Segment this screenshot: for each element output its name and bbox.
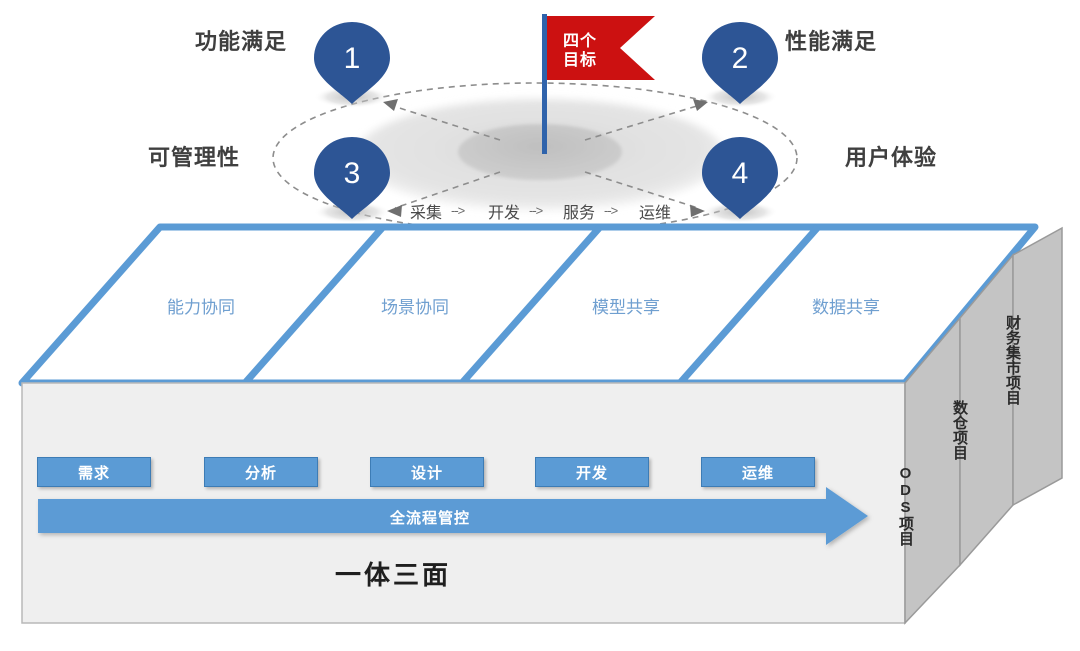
lifecycle-arrow-3: -->: [604, 203, 617, 218]
svg-text:4: 4: [732, 157, 749, 190]
diagram-canvas: 1 2 3 4: [0, 0, 1080, 651]
lifecycle-step-1: 采集: [410, 199, 442, 223]
side-panel-label-finance: 财务集市项目: [1002, 315, 1023, 405]
goal-label-1: 功能满足: [195, 24, 287, 56]
svg-text:1: 1: [344, 42, 361, 75]
lifecycle-arrow-1: -->: [451, 203, 464, 218]
lifecycle-step-4: 运维: [639, 199, 671, 223]
top-cell-label-2: 场景协同: [381, 293, 449, 318]
goal-label-2: 性能满足: [785, 24, 877, 56]
top-cell-label-1: 能力协同: [167, 293, 235, 318]
center-platform: [355, 99, 725, 211]
flag-pole: [542, 14, 547, 154]
side-panel-label-ods: ODS项目: [895, 465, 916, 546]
full-process-arrow-label: 全流程管控: [390, 507, 470, 528]
side-panel-label-dw: 数仓项目: [949, 400, 970, 460]
lifecycle-step-2: 开发: [488, 199, 520, 223]
inner-ellipse: [458, 124, 622, 180]
process-button-development[interactable]: 开发: [535, 457, 649, 487]
top-cell-label-3: 模型共享: [592, 293, 660, 318]
process-button-operations[interactable]: 运维: [701, 457, 815, 487]
front-face-title: 一体三面: [335, 555, 451, 592]
process-button-requirement[interactable]: 需求: [37, 457, 151, 487]
goal-label-4: 用户体验: [845, 140, 937, 172]
lifecycle-step-3: 服务: [563, 199, 595, 223]
top-cell-label-4: 数据共享: [812, 293, 880, 318]
process-button-design[interactable]: 设计: [370, 457, 484, 487]
diagram-shapes: 1 2 3 4: [0, 0, 1080, 651]
process-button-analysis[interactable]: 分析: [204, 457, 318, 487]
flag-text-line2: 目标: [563, 51, 597, 70]
flag-text-line1: 四个: [563, 32, 597, 51]
goal-label-3: 可管理性: [148, 140, 240, 172]
svg-text:3: 3: [344, 157, 361, 190]
svg-text:2: 2: [732, 42, 749, 75]
lifecycle-arrow-2: -->: [529, 203, 542, 218]
